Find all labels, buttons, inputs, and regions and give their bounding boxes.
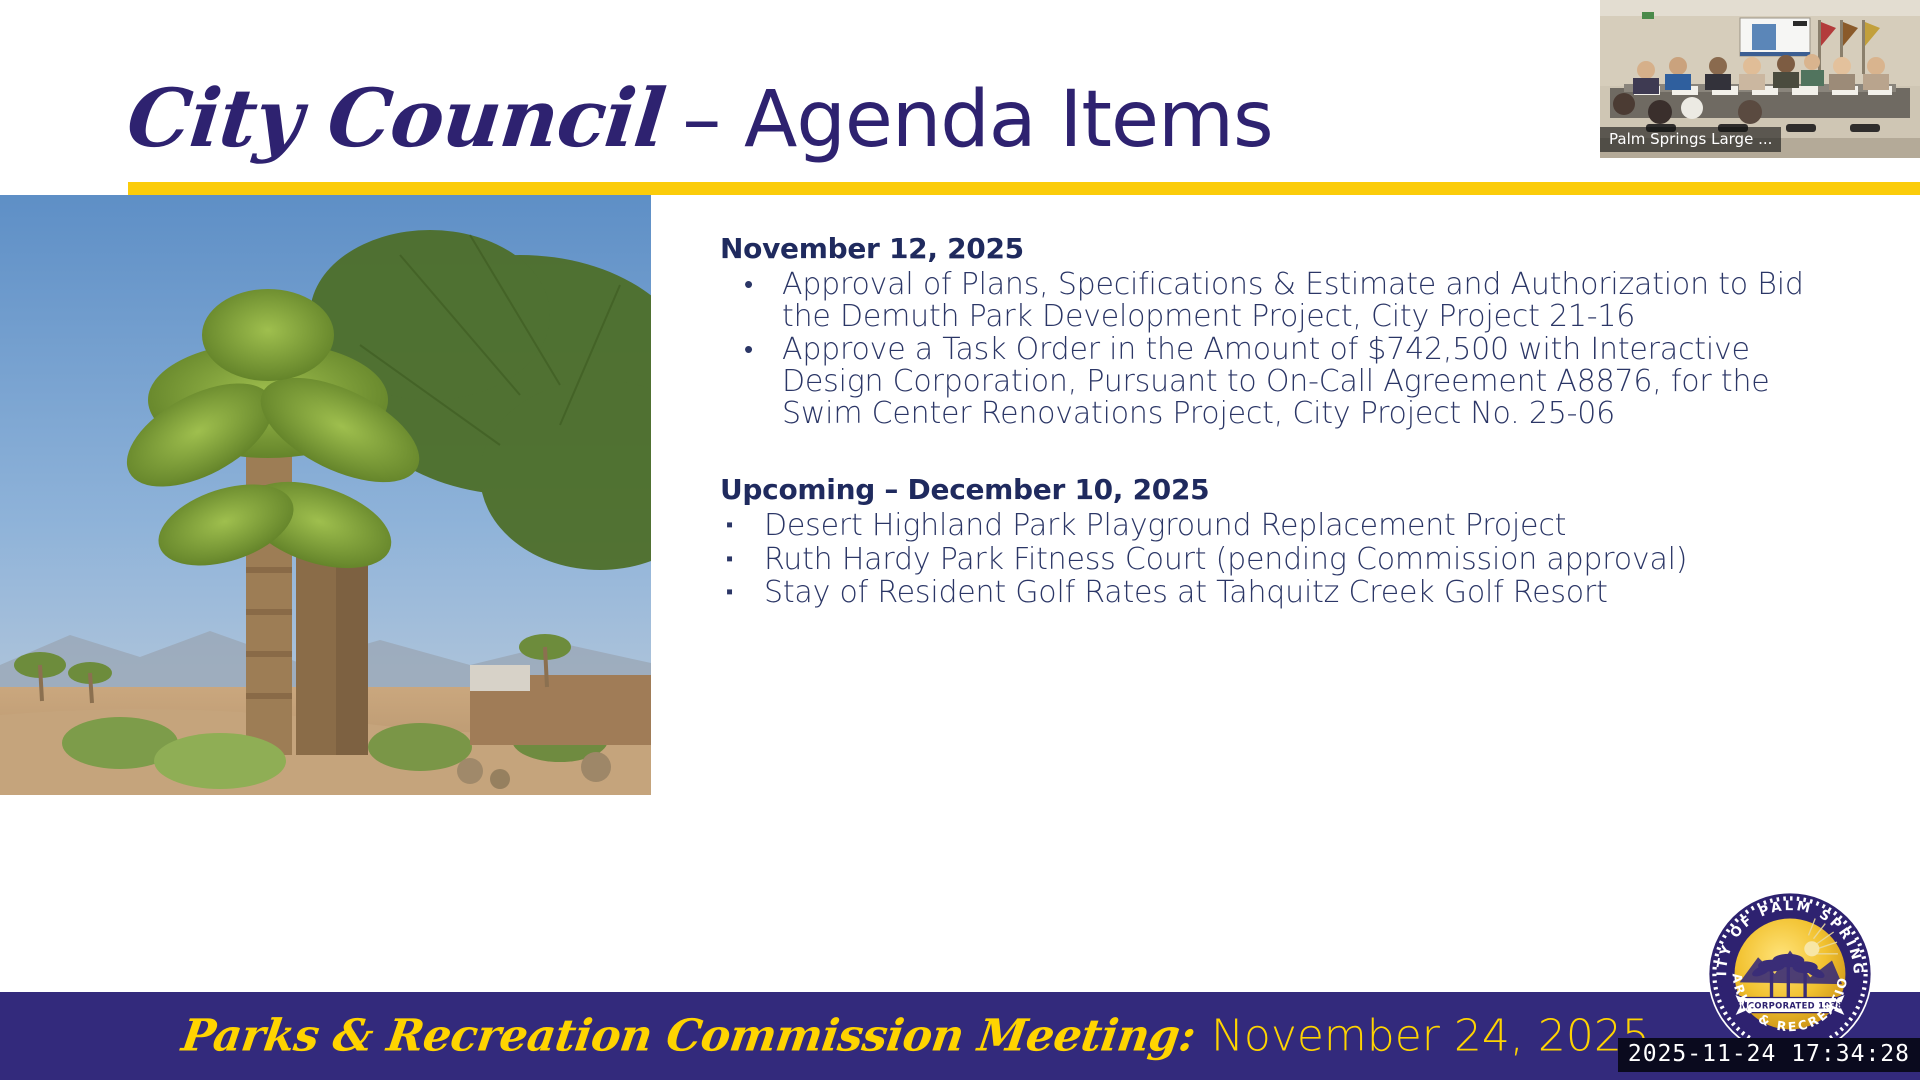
slide-title: City Council – Agenda Items [128,78,1273,159]
slide-title-rest: – Agenda Items [682,81,1272,159]
list-item-text: Approve a Task Order in the Amount of $7… [782,332,1770,431]
video-pip-label: Palm Springs Large ... [1600,127,1781,152]
section-spacer [720,431,1840,473]
city-seal-logo: INCORPORATED 1938 CITY OF PALM SPRINGS P… [1706,890,1874,1058]
november-items-list: • Approval of Plans, Specifications & Es… [720,269,1840,430]
list-item-text: Approval of Plans, Specifications & Esti… [782,267,1804,334]
bullet-square-icon: ▪ [726,546,733,571]
list-item: ▪ Ruth Hardy Park Fitness Court (pending… [720,544,1840,576]
bullet-square-icon: ▪ [726,512,733,537]
footer-caption: Parks & Recreation Commission Meeting: N… [182,1011,1650,1062]
list-item: • Approve a Task Order in the Amount of … [720,334,1840,430]
list-item-text: Ruth Hardy Park Fitness Court (pending C… [764,542,1687,577]
footer-meeting-title: Parks & Recreation Commission Meeting: [179,1011,1199,1062]
slide-title-script: City Council [124,78,669,158]
footer-meeting-date: November 24, 2025 [1211,1011,1650,1062]
bullet-square-icon: ▪ [726,579,733,604]
section-heading-november: November 12, 2025 [720,232,1840,265]
list-item: • Approval of Plans, Specifications & Es… [720,269,1840,333]
section-heading-upcoming: Upcoming – December 10, 2025 [720,473,1840,506]
list-item-text: Stay of Resident Golf Rates at Tahquitz … [764,575,1608,610]
agenda-content: November 12, 2025 • Approval of Plans, S… [720,232,1840,610]
title-divider-bar [128,182,1920,195]
video-timestamp: 2025-11-24 17:34:28 [1618,1038,1920,1072]
park-photo [0,195,651,795]
bullet-dot-icon: • [744,269,753,302]
video-pip-thumbnail[interactable]: Palm Springs Large ... [1600,0,1920,158]
list-item: ▪ Stay of Resident Golf Rates at Tahquit… [720,577,1840,609]
presentation-slide: City Council – Agenda Items [0,0,1920,1080]
bullet-dot-icon: • [744,334,753,367]
list-item: ▪ Desert Highland Park Playground Replac… [720,510,1840,542]
list-item-text: Desert Highland Park Playground Replacem… [764,508,1566,543]
upcoming-items-list: ▪ Desert Highland Park Playground Replac… [720,510,1840,608]
